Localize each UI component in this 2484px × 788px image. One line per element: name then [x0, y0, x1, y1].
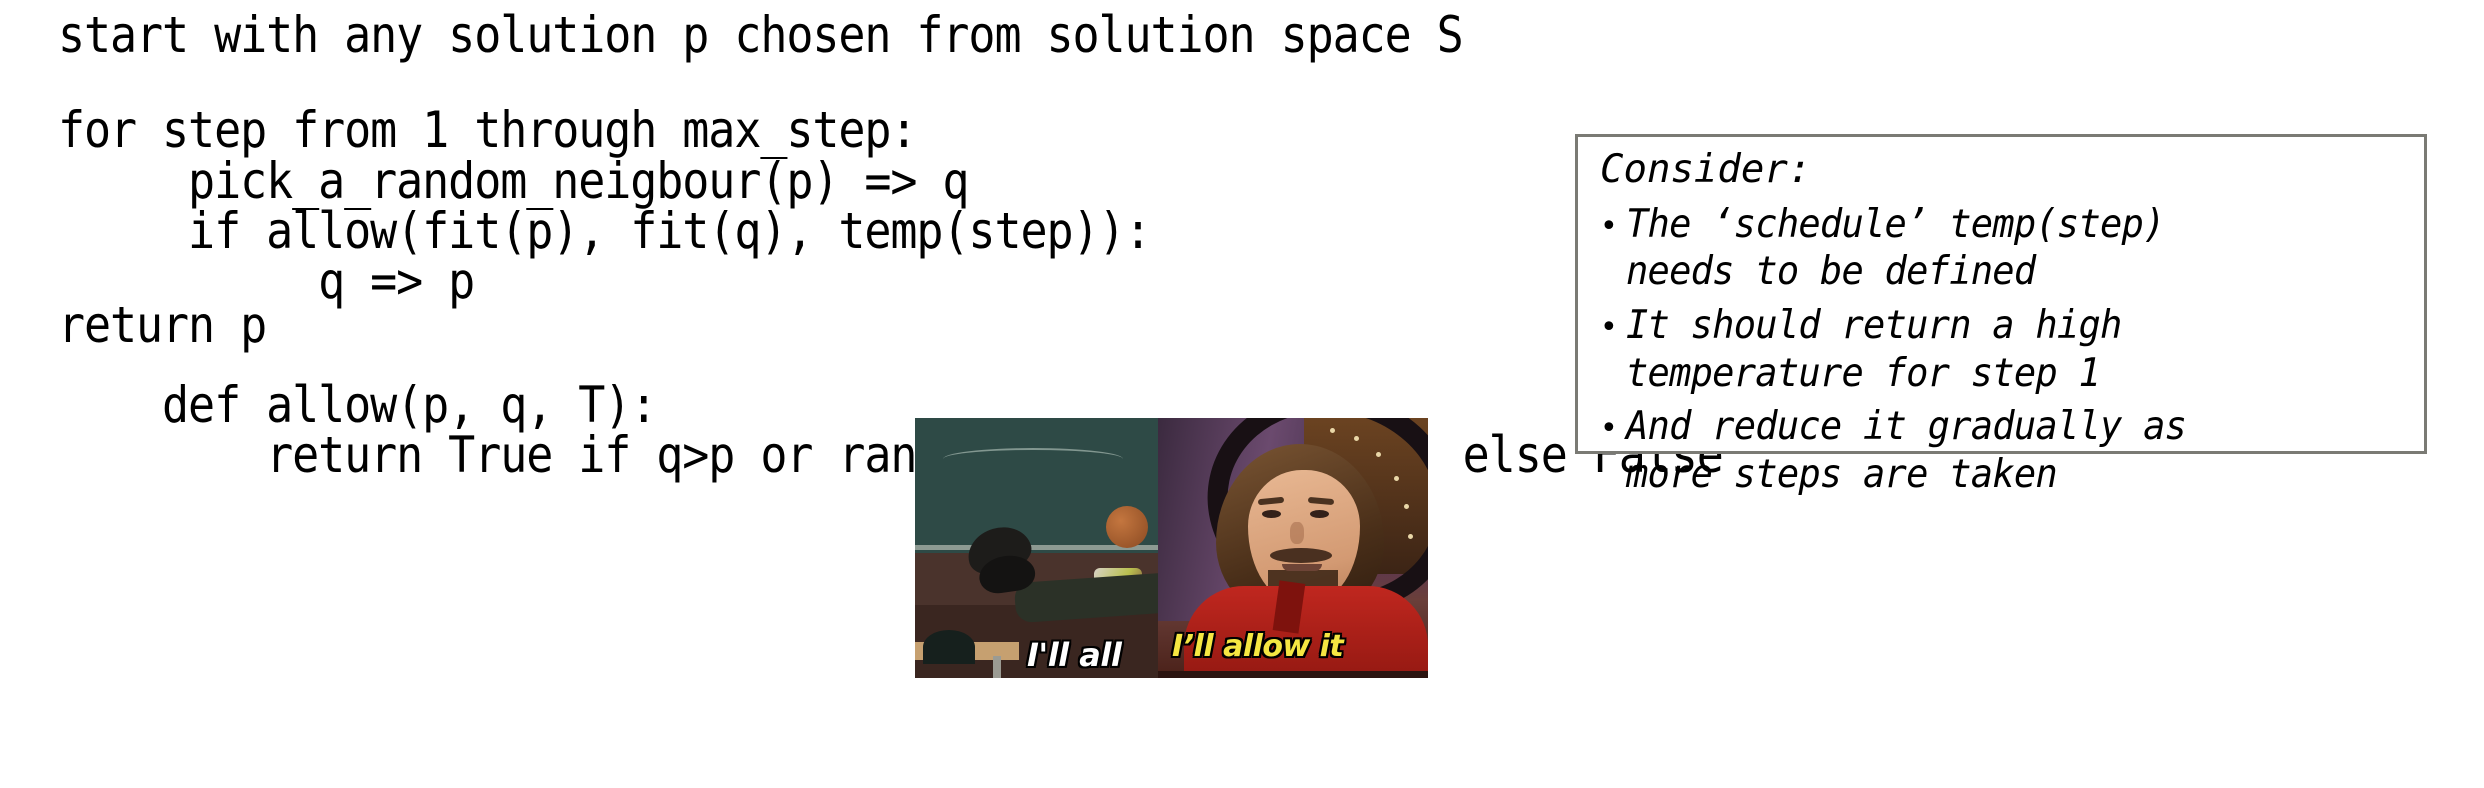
consider-callout-box: Consider: • The ‘schedule’ temp(step) ne… [1575, 134, 2427, 454]
code-line-for: for step from 1 through max_step: [58, 105, 916, 155]
stud-icon [1404, 504, 1409, 509]
ill-allow-it-meme-image: I'll all I’ll allow it [915, 418, 1428, 678]
bullet-icon: • [1600, 302, 1626, 349]
stud-icon [1354, 436, 1359, 441]
chalkboard-streak [943, 448, 1123, 470]
consider-title: Consider: [1600, 145, 2406, 195]
eye-left-shape [1262, 510, 1281, 518]
code-line-return-bool: return True if q>p or rand(1)<=exp(-(q-p… [58, 430, 1723, 480]
basketball-icon [1106, 506, 1148, 548]
video-bottom-bar [1158, 671, 1428, 678]
nose-shape [1290, 522, 1304, 544]
mouth-shape [1282, 564, 1322, 571]
code-line-return: return p [58, 300, 266, 350]
consider-list-item: • And reduce it gradually as more steps … [1600, 403, 2406, 498]
code-line-start: start with any solution p chosen from so… [58, 10, 1463, 60]
stud-icon [1408, 534, 1413, 539]
leg-shape [1014, 573, 1158, 623]
meme-panel-judge: I’ll allow it [1158, 418, 1428, 678]
stud-icon [1330, 428, 1335, 433]
meme-caption-left: I'll all [1027, 636, 1121, 674]
consider-list-item: • The ‘schedule’ temp(step) needs to be … [1600, 201, 2406, 296]
stud-icon [1376, 452, 1381, 457]
student-silhouette [923, 630, 975, 664]
code-line-pick: pick_a_random_neigbour(p) => q [58, 156, 968, 206]
consider-item-text-1: The ‘schedule’ temp(step) needs to be de… [1626, 201, 2367, 296]
code-line-if: if allow(fit(p), fit(q), temp(step)): [58, 206, 1151, 256]
desk-leg-shape [993, 656, 1001, 678]
code-line-assign: q => p [58, 256, 474, 306]
consider-item-text-3: And reduce it gradually as more steps ar… [1626, 403, 2367, 498]
moustache-shape [1270, 548, 1332, 563]
code-line-def-allow: def allow(p, q, T): [58, 380, 656, 430]
meme-panel-classroom: I'll all [915, 418, 1158, 678]
eye-right-shape [1310, 510, 1329, 518]
stud-icon [1394, 476, 1399, 481]
consider-list-item: • It should return a high temperature fo… [1600, 302, 2406, 397]
bullet-icon: • [1600, 201, 1626, 248]
consider-item-text-2: It should return a high temperature for … [1626, 302, 2367, 397]
meme-caption-right: I’ll allow it [1172, 629, 1343, 664]
bullet-icon: • [1600, 403, 1626, 450]
